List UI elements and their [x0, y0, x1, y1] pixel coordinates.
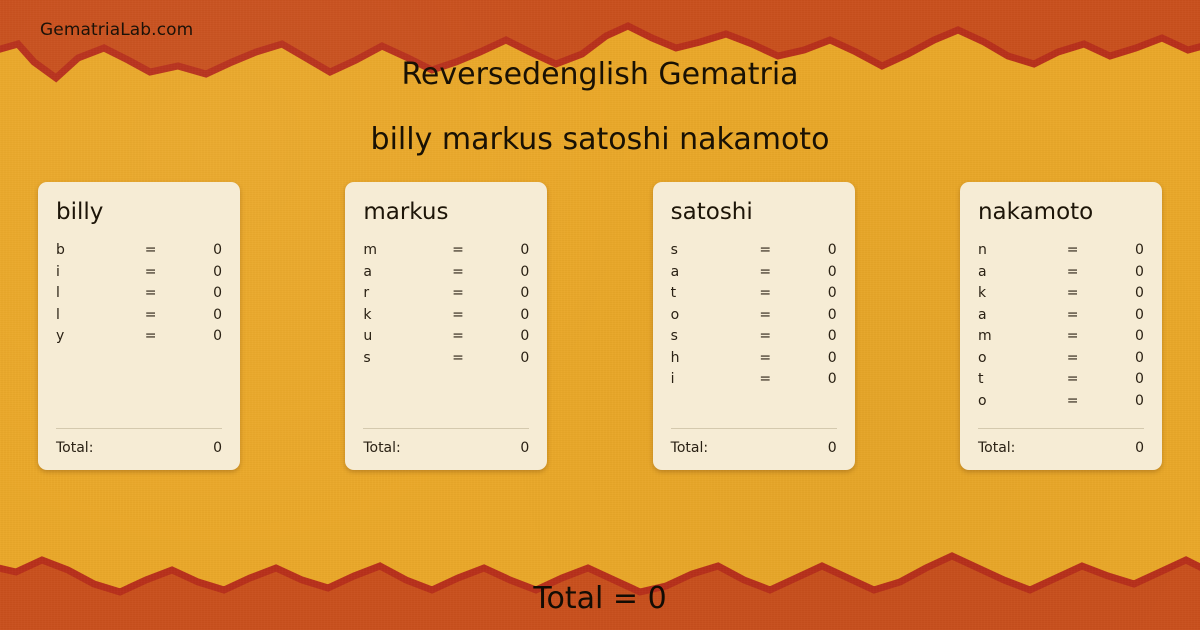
card-total-value: 0: [213, 440, 222, 456]
letter-value: 0: [1094, 242, 1144, 258]
letter-value: 0: [1094, 328, 1144, 344]
equals-sign: =: [129, 285, 172, 301]
letter-char: o: [978, 350, 1051, 366]
letter-char: a: [978, 264, 1051, 280]
letter-value: 0: [1094, 350, 1144, 366]
equals-sign: =: [1051, 371, 1094, 387]
letter-char: u: [363, 328, 436, 344]
equals-sign: =: [1051, 307, 1094, 323]
letter-char: i: [56, 264, 129, 280]
card-word-title: nakamoto: [978, 200, 1144, 225]
card-word-title: markus: [363, 200, 529, 225]
equals-sign: =: [129, 264, 172, 280]
card-total-label: Total:: [363, 440, 400, 456]
equals-sign: =: [1051, 350, 1094, 366]
letter-rows: m = 0 a = 0 r = 0 k = 0: [363, 242, 529, 422]
letter-row: m = 0: [363, 242, 529, 264]
letter-char: y: [56, 328, 129, 344]
letter-row: i = 0: [56, 264, 222, 286]
letter-value: 0: [480, 285, 530, 301]
equals-sign: =: [1051, 393, 1094, 409]
letter-value: 0: [787, 371, 837, 387]
grand-total: Total = 0: [0, 581, 1200, 616]
card-total-label: Total:: [978, 440, 1015, 456]
card-total-row: Total: 0: [56, 429, 222, 456]
equals-sign: =: [744, 328, 787, 344]
equals-sign: =: [1051, 328, 1094, 344]
letter-value: 0: [172, 264, 222, 280]
letter-char: r: [363, 285, 436, 301]
letter-value: 0: [1094, 285, 1144, 301]
phrase-subtitle: billy markus satoshi nakamoto: [0, 122, 1200, 157]
page-title: Reversedenglish Gematria: [0, 57, 1200, 92]
equals-sign: =: [744, 242, 787, 258]
word-card: satoshi s = 0 a = 0 t = 0 o: [653, 182, 855, 470]
letter-row: s = 0: [671, 242, 837, 264]
gematria-poster: GematriaLab.com Reversedenglish Gematria…: [0, 0, 1200, 630]
letter-char: n: [978, 242, 1051, 258]
letter-char: t: [671, 285, 744, 301]
card-total-label: Total:: [56, 440, 93, 456]
letter-char: s: [363, 350, 436, 366]
letter-char: b: [56, 242, 129, 258]
letter-row: o = 0: [978, 350, 1144, 372]
card-total-value: 0: [1135, 440, 1144, 456]
letter-char: o: [978, 393, 1051, 409]
letter-char: a: [978, 307, 1051, 323]
letter-char: h: [671, 350, 744, 366]
equals-sign: =: [436, 242, 479, 258]
equals-sign: =: [1051, 264, 1094, 280]
letter-row: a = 0: [978, 264, 1144, 286]
letter-value: 0: [480, 264, 530, 280]
letter-row: l = 0: [56, 307, 222, 329]
letter-row: a = 0: [978, 307, 1144, 329]
letter-row: i = 0: [671, 371, 837, 393]
equals-sign: =: [436, 264, 479, 280]
letter-row: b = 0: [56, 242, 222, 264]
word-card: markus m = 0 a = 0 r = 0 k: [345, 182, 547, 470]
equals-sign: =: [436, 350, 479, 366]
equals-sign: =: [129, 242, 172, 258]
card-total-label: Total:: [671, 440, 708, 456]
letter-row: k = 0: [978, 285, 1144, 307]
letter-row: a = 0: [671, 264, 837, 286]
equals-sign: =: [436, 328, 479, 344]
letter-row: u = 0: [363, 328, 529, 350]
letter-value: 0: [787, 328, 837, 344]
letter-row: n = 0: [978, 242, 1144, 264]
equals-sign: =: [1051, 242, 1094, 258]
letter-char: a: [363, 264, 436, 280]
card-total-value: 0: [828, 440, 837, 456]
letter-value: 0: [1094, 371, 1144, 387]
card-total-row: Total: 0: [363, 429, 529, 456]
letter-char: s: [671, 328, 744, 344]
card-total-value: 0: [520, 440, 529, 456]
word-cards-container: billy b = 0 i = 0 l = 0 l: [38, 182, 1162, 470]
letter-char: m: [363, 242, 436, 258]
letter-char: a: [671, 264, 744, 280]
equals-sign: =: [744, 371, 787, 387]
card-word-title: satoshi: [671, 200, 837, 225]
letter-rows: s = 0 a = 0 t = 0 o = 0: [671, 242, 837, 422]
letter-char: s: [671, 242, 744, 258]
equals-sign: =: [744, 307, 787, 323]
letter-value: 0: [1094, 307, 1144, 323]
letter-row: s = 0: [671, 328, 837, 350]
letter-value: 0: [787, 242, 837, 258]
letter-rows: b = 0 i = 0 l = 0 l = 0: [56, 242, 222, 422]
letter-rows: n = 0 a = 0 k = 0 a = 0: [978, 242, 1144, 422]
letter-value: 0: [172, 242, 222, 258]
letter-value: 0: [172, 328, 222, 344]
letter-row: y = 0: [56, 328, 222, 350]
letter-row: a = 0: [363, 264, 529, 286]
letter-value: 0: [480, 242, 530, 258]
letter-char: t: [978, 371, 1051, 387]
letter-value: 0: [787, 285, 837, 301]
equals-sign: =: [129, 307, 172, 323]
letter-row: t = 0: [671, 285, 837, 307]
letter-row: t = 0: [978, 371, 1144, 393]
letter-char: i: [671, 371, 744, 387]
letter-row: k = 0: [363, 307, 529, 329]
letter-char: m: [978, 328, 1051, 344]
card-total-row: Total: 0: [671, 429, 837, 456]
letter-char: k: [363, 307, 436, 323]
letter-value: 0: [1094, 264, 1144, 280]
letter-char: l: [56, 307, 129, 323]
equals-sign: =: [744, 350, 787, 366]
letter-row: m = 0: [978, 328, 1144, 350]
letter-row: o = 0: [671, 307, 837, 329]
equals-sign: =: [436, 285, 479, 301]
letter-value: 0: [480, 328, 530, 344]
equals-sign: =: [436, 307, 479, 323]
letter-value: 0: [480, 307, 530, 323]
letter-value: 0: [172, 307, 222, 323]
letter-value: 0: [787, 307, 837, 323]
letter-row: h = 0: [671, 350, 837, 372]
equals-sign: =: [129, 328, 172, 344]
word-card: billy b = 0 i = 0 l = 0 l: [38, 182, 240, 470]
letter-char: l: [56, 285, 129, 301]
equals-sign: =: [744, 264, 787, 280]
letter-char: k: [978, 285, 1051, 301]
letter-row: o = 0: [978, 393, 1144, 415]
letter-row: r = 0: [363, 285, 529, 307]
letter-row: l = 0: [56, 285, 222, 307]
card-total-row: Total: 0: [978, 429, 1144, 456]
letter-row: s = 0: [363, 350, 529, 372]
word-card: nakamoto n = 0 a = 0 k = 0 a: [960, 182, 1162, 470]
card-word-title: billy: [56, 200, 222, 225]
equals-sign: =: [1051, 285, 1094, 301]
letter-char: o: [671, 307, 744, 323]
site-logo[interactable]: GematriaLab.com: [40, 20, 193, 40]
equals-sign: =: [744, 285, 787, 301]
letter-value: 0: [787, 350, 837, 366]
letter-value: 0: [480, 350, 530, 366]
letter-value: 0: [1094, 393, 1144, 409]
letter-value: 0: [787, 264, 837, 280]
letter-value: 0: [172, 285, 222, 301]
